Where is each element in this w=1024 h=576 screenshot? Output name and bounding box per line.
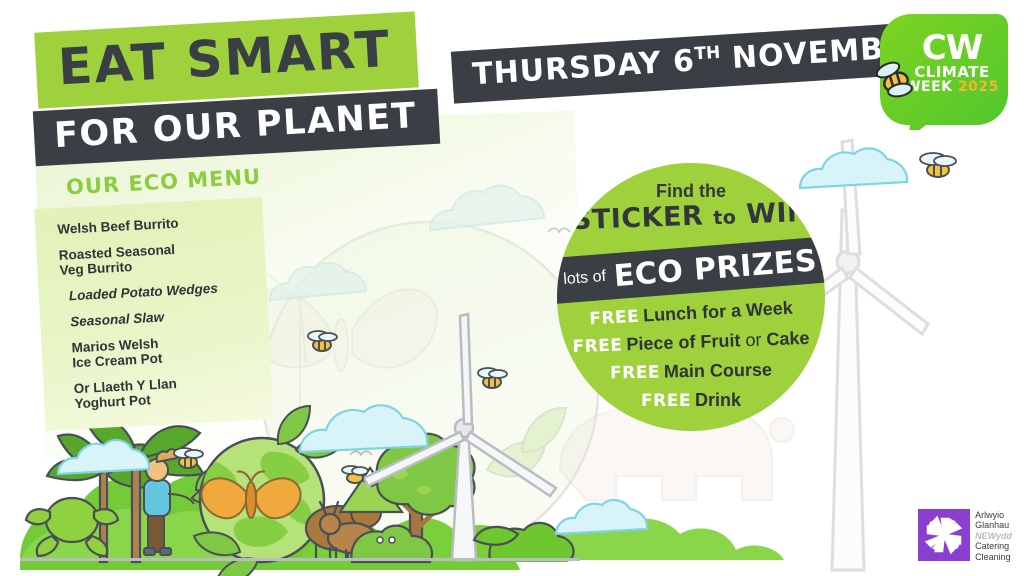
our-eco-menu-label: OUR ECO MENU [65,165,261,200]
newydd-logo-text: Arlwyio Glanhau NEWydd Catering Cleaning [975,509,1012,563]
newydd-arlwyio: Arlwyio [975,510,1012,521]
eco-prizes-text: ECO PRIZES! [613,242,825,294]
climate-week-logo: CW CLIMATE WEEK 2025 [878,8,1010,130]
prize-row: FREEMain Course [571,359,811,384]
newydd-logo: Arlwyio Glanhau NEWydd Catering Cleaning [918,509,1012,563]
prize-row: FREEPiece of Fruit or Cake [571,328,812,357]
prize-circle: Find the STICKER to WIN lots of ECO PRIZ… [557,163,825,431]
free-tag: FREE [641,391,691,411]
newydd-cleaning: Cleaning [975,552,1012,563]
newydd-brand: NEWydd [975,531,1012,542]
prize-list: FREELunch for a Week FREEPiece of Fruit … [557,303,825,419]
menu-item: Welsh Beef Burrito [57,212,254,237]
prize-text-alt: Cake [766,328,810,349]
prize-row: FREELunch for a Week [571,297,812,331]
free-tag: FREE [589,307,640,330]
menu-item: Seasonal Slaw [62,305,259,330]
menu-item: Marios Welsh Ice Cream Pot [63,331,260,371]
prize-row: FREEDrink [571,390,811,411]
menu-item: Roasted Seasonal Veg Burrito [58,238,255,278]
sticker-to-win-text: STICKER to WIN [557,196,825,236]
menu-item: Or Llaeth Y Llan Yoghurt Pot [65,371,262,411]
prize-text: Piece of Fruit [626,330,741,354]
newydd-catering: Catering [975,541,1012,552]
prize-text: Drink [695,390,741,410]
free-tag: FREE [610,363,660,384]
lots-of-text: lots of [563,268,607,289]
poster-canvas: EAT SMART FOR OUR PLANET OUR ECO MENU TH… [0,0,1024,576]
free-tag: FREE [572,335,623,357]
logo-bee-icon [874,60,920,100]
prize-text: Main Course [664,360,772,382]
date-banner-text: THURSDAY 6TH NOVEMBER [471,29,930,93]
prize-conjunction: or [745,330,762,351]
prize-text: Lunch for a Week [643,298,794,326]
eco-prizes-band: lots of ECO PRIZES! [557,235,825,306]
eco-menu-card: Welsh Beef Burrito Roasted Seasonal Veg … [34,197,273,431]
newydd-glanhau: Glanhau [975,520,1012,531]
menu-item: Loaded Potato Wedges [61,279,258,304]
newydd-starburst-icon [918,509,970,561]
headline-for-our-planet-text: FOR OUR PLANET [53,96,418,156]
headline-eat-smart-text: EAT SMART [57,20,393,97]
